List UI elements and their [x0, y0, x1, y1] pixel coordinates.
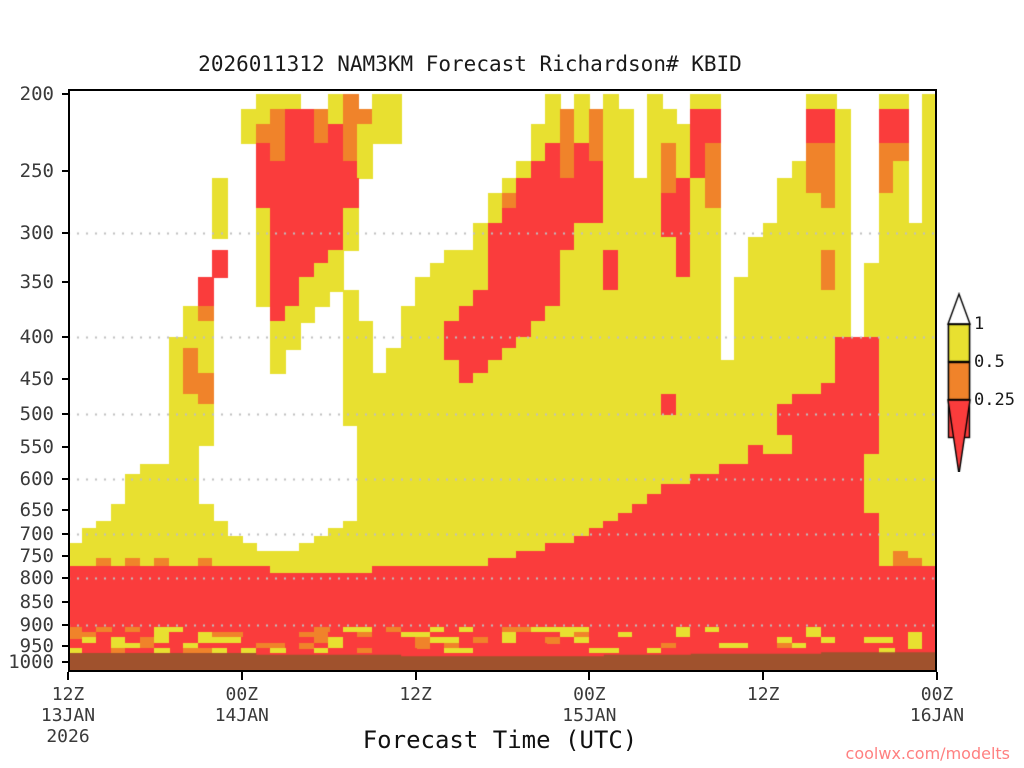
y-tick-mark — [62, 170, 70, 172]
heatmap-plot — [68, 89, 937, 672]
y-tick-mark — [62, 509, 70, 511]
x-tick-time: 00Z — [910, 684, 964, 705]
y-tick-mark — [62, 93, 70, 95]
colorbar-label: 1 — [974, 314, 984, 334]
y-tick-label: 650 — [20, 499, 54, 521]
x-tick-mark — [762, 672, 764, 680]
colorbar-canvas — [944, 292, 978, 472]
x-tick-label: 12Z — [747, 684, 780, 705]
x-tick-label: 00Z15JAN — [562, 684, 616, 726]
x-tick-date: 13JAN — [41, 705, 95, 726]
x-tick-date: 15JAN — [562, 705, 616, 726]
x-tick-label: 00Z16JAN — [910, 684, 964, 726]
y-tick-label: 750 — [20, 545, 54, 567]
y-tick-mark — [62, 336, 70, 338]
heatmap-canvas — [68, 89, 937, 672]
x-tick-label: 12Z — [399, 684, 432, 705]
y-tick-label: 500 — [20, 403, 54, 425]
x-tick-mark — [415, 672, 417, 680]
y-tick-mark — [62, 661, 70, 663]
y-tick-mark — [62, 378, 70, 380]
x-tick-time: 12Z — [41, 684, 95, 705]
watermark: coolwx.com/modelts — [846, 744, 1010, 763]
colorbar-label: 0.5 — [974, 352, 1005, 372]
x-tick-mark — [67, 672, 69, 680]
y-tick-mark — [62, 478, 70, 480]
y-tick-label: 850 — [20, 591, 54, 613]
y-tick-mark — [62, 624, 70, 626]
x-tick-mark — [241, 672, 243, 680]
x-tick-time: 12Z — [747, 684, 780, 705]
colorbar-label: 0.25 — [974, 390, 1015, 410]
chart-title: 2026011312 NAM3KM Forecast Richardson# K… — [0, 52, 940, 76]
y-tick-label: 600 — [20, 468, 54, 490]
y-tick-label: 450 — [20, 368, 54, 390]
y-tick-label: 200 — [20, 83, 54, 105]
y-tick-mark — [62, 645, 70, 647]
x-tick-label: 00Z14JAN — [215, 684, 269, 726]
y-tick-label: 350 — [20, 271, 54, 293]
x-tick-mark — [936, 672, 938, 680]
y-tick-label: 700 — [20, 523, 54, 545]
y-tick-mark — [62, 281, 70, 283]
y-tick-label: 900 — [20, 614, 54, 636]
y-tick-mark — [62, 601, 70, 603]
y-tick-label: 300 — [20, 222, 54, 244]
y-tick-label: 1000 — [8, 651, 54, 673]
chart-page: 2026011312 NAM3KM Forecast Richardson# K… — [0, 0, 1024, 768]
x-tick-date: 16JAN — [910, 705, 964, 726]
y-tick-label: 400 — [20, 326, 54, 348]
y-tick-mark — [62, 446, 70, 448]
y-axis: 2002503003504004505005506006507007508008… — [0, 0, 62, 768]
y-tick-mark — [62, 533, 70, 535]
y-tick-mark — [62, 577, 70, 579]
y-tick-mark — [62, 555, 70, 557]
y-tick-label: 550 — [20, 436, 54, 458]
x-tick-time: 00Z — [215, 684, 269, 705]
x-tick-date: 14JAN — [215, 705, 269, 726]
x-tick-time: 12Z — [399, 684, 432, 705]
y-tick-label: 800 — [20, 567, 54, 589]
colorbar: 10.50.25 — [944, 292, 1024, 472]
y-tick-mark — [62, 232, 70, 234]
y-tick-mark — [62, 413, 70, 415]
x-tick-mark — [588, 672, 590, 680]
x-tick-time: 00Z — [562, 684, 616, 705]
y-tick-label: 250 — [20, 160, 54, 182]
